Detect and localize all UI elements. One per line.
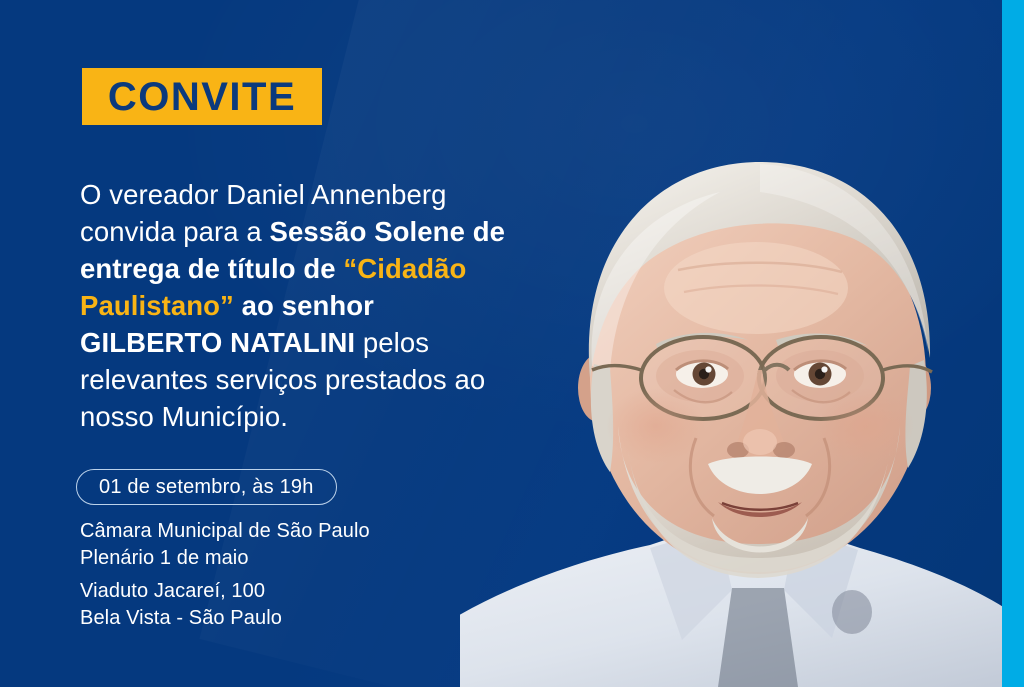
honoree-name: GILBERTO NATALINI: [80, 327, 355, 358]
invite-line-5-plain: pelos: [355, 327, 429, 358]
invitation-text: O vereador Daniel Annenberg convida para…: [80, 176, 520, 435]
invite-card: CONVITE O vereador Daniel Annenberg conv…: [0, 0, 1024, 687]
invite-line-4-bold: ao senhor: [234, 290, 374, 321]
convite-badge-label: CONVITE: [108, 77, 296, 117]
invite-line-6: relevantes serviços prestados: [80, 364, 447, 395]
portrait-photo: [460, 120, 1005, 687]
address-block: Viaduto Jacareí, 100 Bela Vista - São Pa…: [80, 578, 282, 632]
address-line-2: Bela Vista - São Paulo: [80, 605, 282, 632]
event-date-label: 01 de setembro, às 19h: [99, 476, 314, 499]
address-line-1: Viaduto Jacareí, 100: [80, 578, 282, 605]
venue-line-2: Plenário 1 de maio: [80, 545, 370, 572]
invite-line-2-bold: Sessão Solene: [270, 216, 465, 247]
right-accent-strip: [1002, 0, 1024, 687]
venue-line-1: Câmara Municipal de São Paulo: [80, 518, 370, 545]
convite-badge: CONVITE: [82, 68, 322, 125]
invite-line-1: O vereador Daniel Annenberg: [80, 179, 447, 210]
venue-block: Câmara Municipal de São Paulo Plenário 1…: [80, 518, 370, 572]
event-date-badge: 01 de setembro, às 19h: [76, 469, 337, 505]
invite-line-2-plain: convida para a: [80, 216, 270, 247]
